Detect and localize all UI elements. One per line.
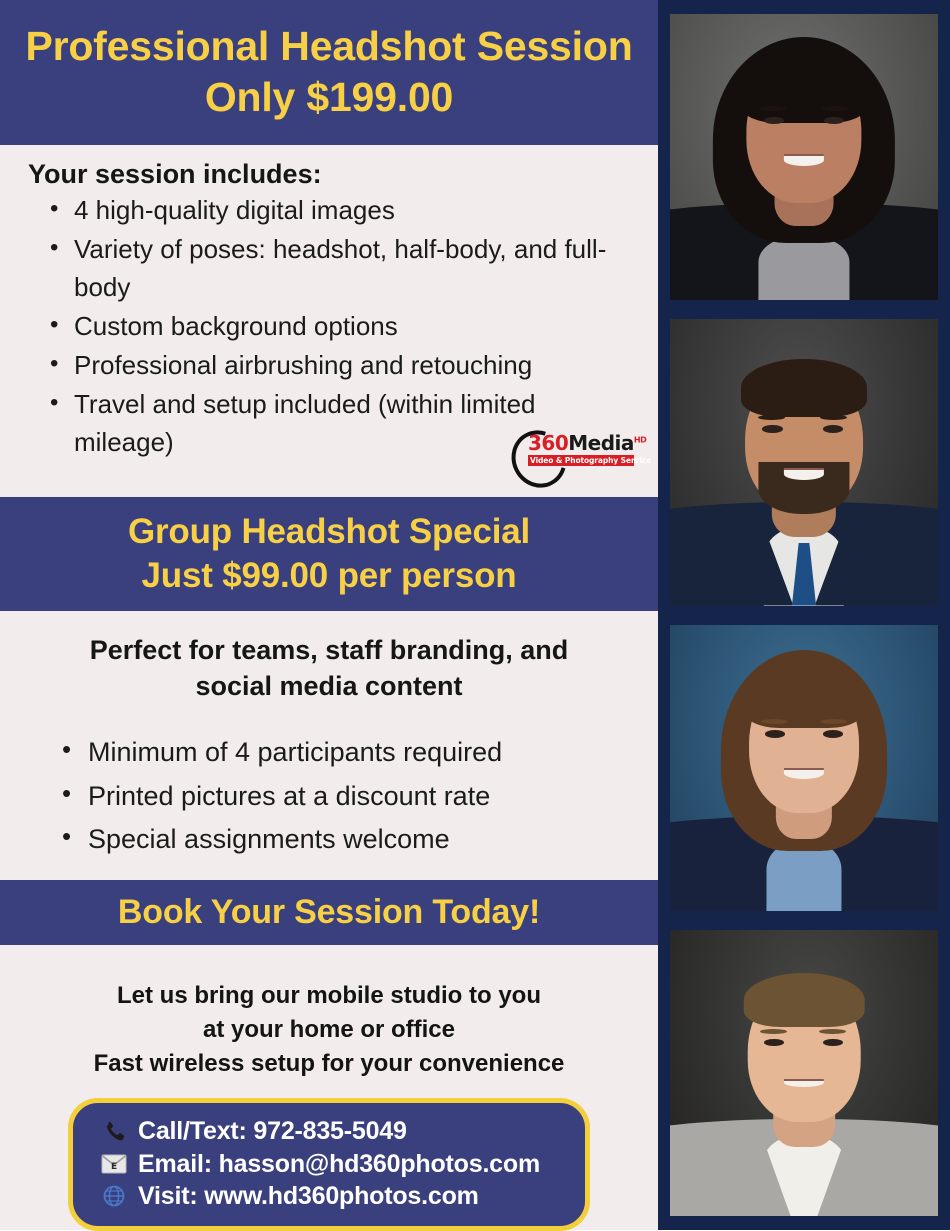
contact-phone-text: Call/Text: 972-835-5049 xyxy=(138,1115,407,1148)
content-column: Professional Headshot Session Only $199.… xyxy=(0,0,658,1230)
brand-logo: 360MediaHD Video & Photography Service xyxy=(508,425,636,483)
portrait-figure xyxy=(670,930,938,1216)
globe-icon xyxy=(99,1183,129,1209)
headshot-photo xyxy=(670,930,938,1216)
group-special-band: Group Headshot Special Just $99.00 per p… xyxy=(0,497,658,611)
logo-superscript: HD xyxy=(634,435,646,444)
logo-tagline: Video & Photography Service xyxy=(528,455,634,466)
portrait-figure xyxy=(670,625,938,911)
logo-body: 360MediaHD Video & Photography Service xyxy=(528,433,634,466)
contact-email-text: Email: hasson@hd360photos.com xyxy=(138,1148,540,1181)
headline-line-2: Only $199.00 xyxy=(205,72,453,122)
logo-word: Media xyxy=(568,431,634,455)
group-band-line-2: Just $99.00 per person xyxy=(142,554,517,598)
photo-strip xyxy=(658,0,950,1230)
group-headline-line-1: Perfect for teams, staff branding, and xyxy=(90,635,569,665)
contact-website-row[interactable]: Visit: www.hd360photos.com xyxy=(99,1180,567,1213)
call-to-action-band: Book Your Session Today! xyxy=(0,880,658,945)
headshot-photo xyxy=(670,319,938,605)
includes-title: Your session includes: xyxy=(28,159,640,190)
headline-band: Professional Headshot Session Only $199.… xyxy=(0,0,658,145)
group-band-line-1: Group Headshot Special xyxy=(128,510,530,554)
logo-wordmark: 360MediaHD xyxy=(528,433,634,453)
closing-line-1: Let us bring our mobile studio to you xyxy=(0,979,658,1013)
portrait-figure xyxy=(670,14,938,300)
headline-line-1: Professional Headshot Session xyxy=(25,21,632,71)
closing-line-2: at your home or office xyxy=(0,1013,658,1047)
contact-email-row[interactable]: E Email: hasson@hd360photos.com xyxy=(99,1148,567,1181)
phone-icon xyxy=(99,1118,129,1144)
group-list: Minimum of 4 participants required Print… xyxy=(22,731,636,862)
flyer: Professional Headshot Session Only $199.… xyxy=(0,0,950,1230)
group-headline-line-2: social media content xyxy=(195,671,462,701)
closing-line-3: Fast wireless setup for your convenience xyxy=(0,1047,658,1081)
envelope-icon: E xyxy=(99,1151,129,1177)
list-item: Custom background options xyxy=(74,308,640,346)
list-item: Professional airbrushing and retouching xyxy=(74,347,640,385)
contact-phone-row[interactable]: Call/Text: 972-835-5049 xyxy=(99,1115,567,1148)
list-item: Minimum of 4 participants required xyxy=(88,731,636,775)
headshot-photo xyxy=(670,14,938,300)
cta-line-1: Book Your Session Today! xyxy=(118,895,540,931)
svg-text:E: E xyxy=(111,1162,117,1172)
includes-list: 4 high-quality digital images Variety of… xyxy=(28,192,640,462)
group-details-section: Perfect for teams, staff branding, and s… xyxy=(0,611,658,880)
list-item: Variety of poses: headshot, half-body, a… xyxy=(74,231,640,307)
closing-section: Let us bring our mobile studio to you at… xyxy=(0,945,658,1230)
group-headline: Perfect for teams, staff branding, and s… xyxy=(22,633,636,705)
contact-box[interactable]: Call/Text: 972-835-5049 E Email: hasson@… xyxy=(68,1098,590,1231)
headshot-photo xyxy=(670,625,938,911)
list-item: Special assignments welcome xyxy=(88,818,636,862)
session-includes-section: Your session includes: 4 high-quality di… xyxy=(0,145,658,497)
logo-number: 360 xyxy=(528,431,568,455)
list-item: 4 high-quality digital images xyxy=(74,192,640,230)
contact-website-text: Visit: www.hd360photos.com xyxy=(138,1180,479,1213)
list-item: Printed pictures at a discount rate xyxy=(88,775,636,819)
portrait-figure xyxy=(670,319,938,605)
